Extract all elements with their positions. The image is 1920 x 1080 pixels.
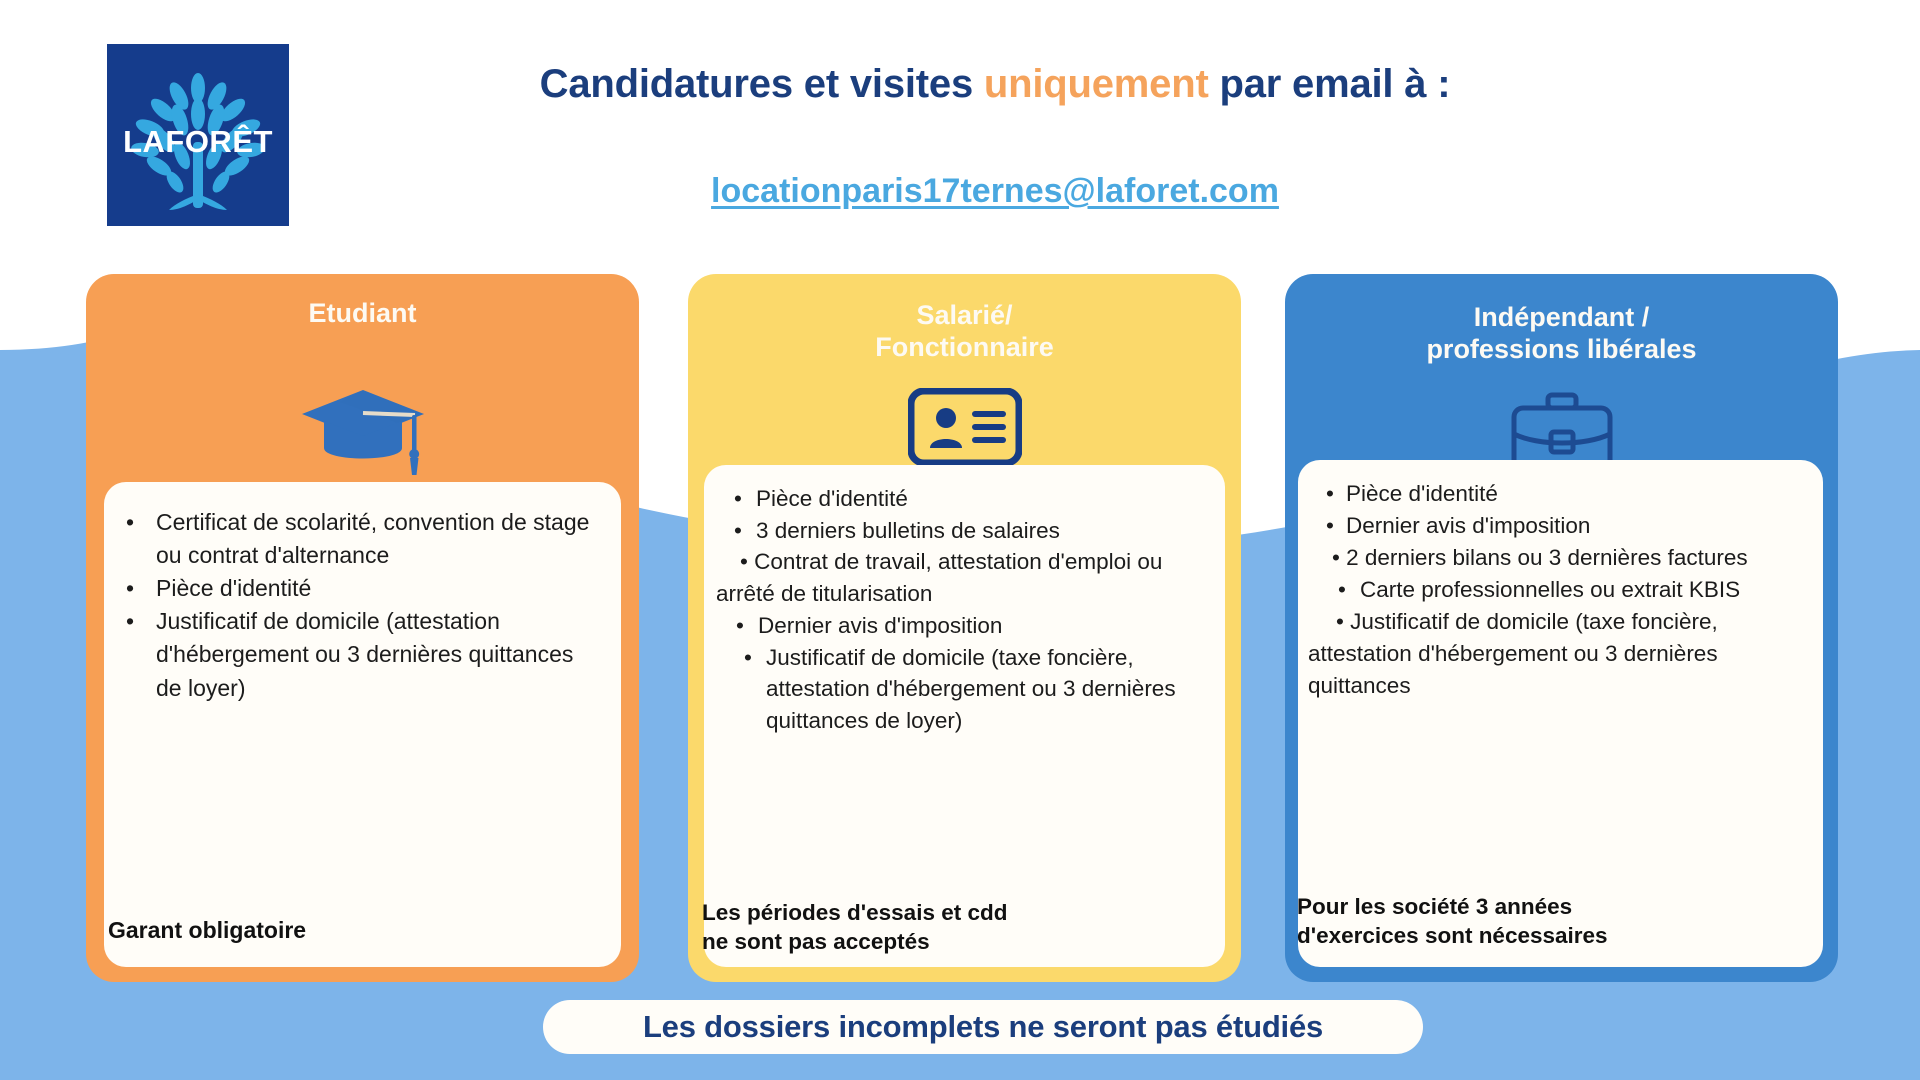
card-note-independant: Pour les société 3 années d'exercices so… xyxy=(1297,892,1608,951)
list-item-text: Carte professionnelles ou extrait KBIS xyxy=(1360,577,1740,602)
list-item-text: Dernier avis d'imposition xyxy=(1346,513,1590,538)
poster-canvas: LAFORÊT Candidatures et visites uniqueme… xyxy=(0,0,1920,1080)
list-item: • Justificatif de domicile (taxe foncièr… xyxy=(1308,606,1811,702)
title-part-2: par email à : xyxy=(1209,62,1451,106)
list-item: •Dernier avis d'imposition xyxy=(1308,510,1811,542)
list-item-text: Pièce d'identité xyxy=(156,575,311,601)
list-item: • Pièce d'identité xyxy=(1308,478,1811,510)
laforet-tree-logo-mark: LAFORÊT xyxy=(107,44,289,226)
list-item: • Contrat de travail, attestation d'empl… xyxy=(716,546,1211,609)
list-item-text: 2 derniers bilans ou 3 dernières facture… xyxy=(1346,545,1747,570)
card-title-independant: Indépendant / professions libérales xyxy=(1285,302,1838,366)
bullet-icon: • xyxy=(734,483,742,515)
category-card-independant: Indépendant / professions libérales • Pi… xyxy=(1285,274,1838,982)
footer-banner-text: Les dossiers incomplets ne seront pas ét… xyxy=(643,1009,1323,1045)
card-note-salarie: Les périodes d'essais et cdd ne sont pas… xyxy=(702,898,1007,957)
list-item-text: Pièce d'identité xyxy=(1346,481,1498,506)
bullet-icon: • xyxy=(126,506,134,539)
id-card-icon xyxy=(688,388,1241,466)
list-item-text: Contrat de travail, attestation d'emploi… xyxy=(716,549,1162,606)
document-list-salarie: •Pièce d'identité •3 derniers bulletins … xyxy=(704,465,1225,737)
bullet-icon: • xyxy=(126,605,134,638)
card-title-salarie: Salarié/ Fonctionnaire xyxy=(688,300,1241,364)
bullet-icon: • xyxy=(740,549,754,574)
list-item: •Pièce d'identité xyxy=(716,483,1211,515)
list-item-text: 3 derniers bulletins de salaires xyxy=(756,518,1060,543)
bullet-icon: • xyxy=(734,515,742,547)
list-item: •Dernier avis d'imposition xyxy=(716,610,1211,642)
list-item: •Carte professionnelles ou extrait KBIS xyxy=(1308,574,1811,606)
bullet-icon: • xyxy=(1332,545,1346,570)
bullet-icon: • xyxy=(1326,510,1334,542)
contact-email-link[interactable]: locationparis17ternes@laforet.com xyxy=(330,172,1660,211)
list-item: •Pièce d'identité xyxy=(126,572,595,605)
graduation-cap-icon xyxy=(86,382,639,477)
list-item-text: Pièce d'identité xyxy=(756,486,908,511)
list-item-text: Justificatif de domicile (taxe foncière,… xyxy=(766,645,1176,733)
list-item: •Certificat de scolarité, convention de … xyxy=(126,506,595,572)
bullet-icon: • xyxy=(1326,478,1334,510)
list-item: • 2 derniers bilans ou 3 dernières factu… xyxy=(1308,542,1811,574)
card-note-etudiant: Garant obligatoire xyxy=(108,916,306,946)
logo-wordmark: LAFORÊT xyxy=(123,123,273,159)
list-item-text: Justificatif de domicile (attestation d'… xyxy=(156,608,573,700)
list-item-text: Justificatif de domicile (taxe foncière,… xyxy=(1308,609,1718,698)
bullet-icon: • xyxy=(1338,574,1346,606)
document-list-independant: • Pièce d'identité •Dernier avis d'impos… xyxy=(1298,460,1823,702)
page-title: Candidatures et visites uniquement par e… xyxy=(330,60,1660,108)
list-item: •Justificatif de domicile (attestation d… xyxy=(126,605,595,704)
card-panel-salarie: •Pièce d'identité •3 derniers bulletins … xyxy=(704,465,1225,967)
laforet-logo: LAFORÊT xyxy=(107,44,289,226)
card-panel-etudiant: •Certificat de scolarité, convention de … xyxy=(104,482,621,967)
bullet-icon: • xyxy=(126,572,134,605)
title-accent: uniquement xyxy=(984,62,1209,106)
footer-banner: Les dossiers incomplets ne seront pas ét… xyxy=(543,1000,1423,1054)
list-item: •3 derniers bulletins de salaires xyxy=(716,515,1211,547)
list-item: •Justificatif de domicile (taxe foncière… xyxy=(716,642,1211,737)
card-title-etudiant: Etudiant xyxy=(86,298,639,330)
document-list-etudiant: •Certificat de scolarité, convention de … xyxy=(104,482,621,705)
title-part-1: Candidatures et visites xyxy=(540,62,984,106)
bullet-icon: • xyxy=(1336,609,1350,634)
category-card-etudiant: Etudiant •Certificat de scolarité, conve… xyxy=(86,274,639,982)
bullet-icon: • xyxy=(744,642,752,674)
list-item-text: Certificat de scolarité, convention de s… xyxy=(156,509,589,568)
list-item-text: Dernier avis d'imposition xyxy=(758,613,1002,638)
category-card-salarie: Salarié/ Fonctionnaire •Pièce d'identité… xyxy=(688,274,1241,982)
bullet-icon: • xyxy=(736,610,744,642)
